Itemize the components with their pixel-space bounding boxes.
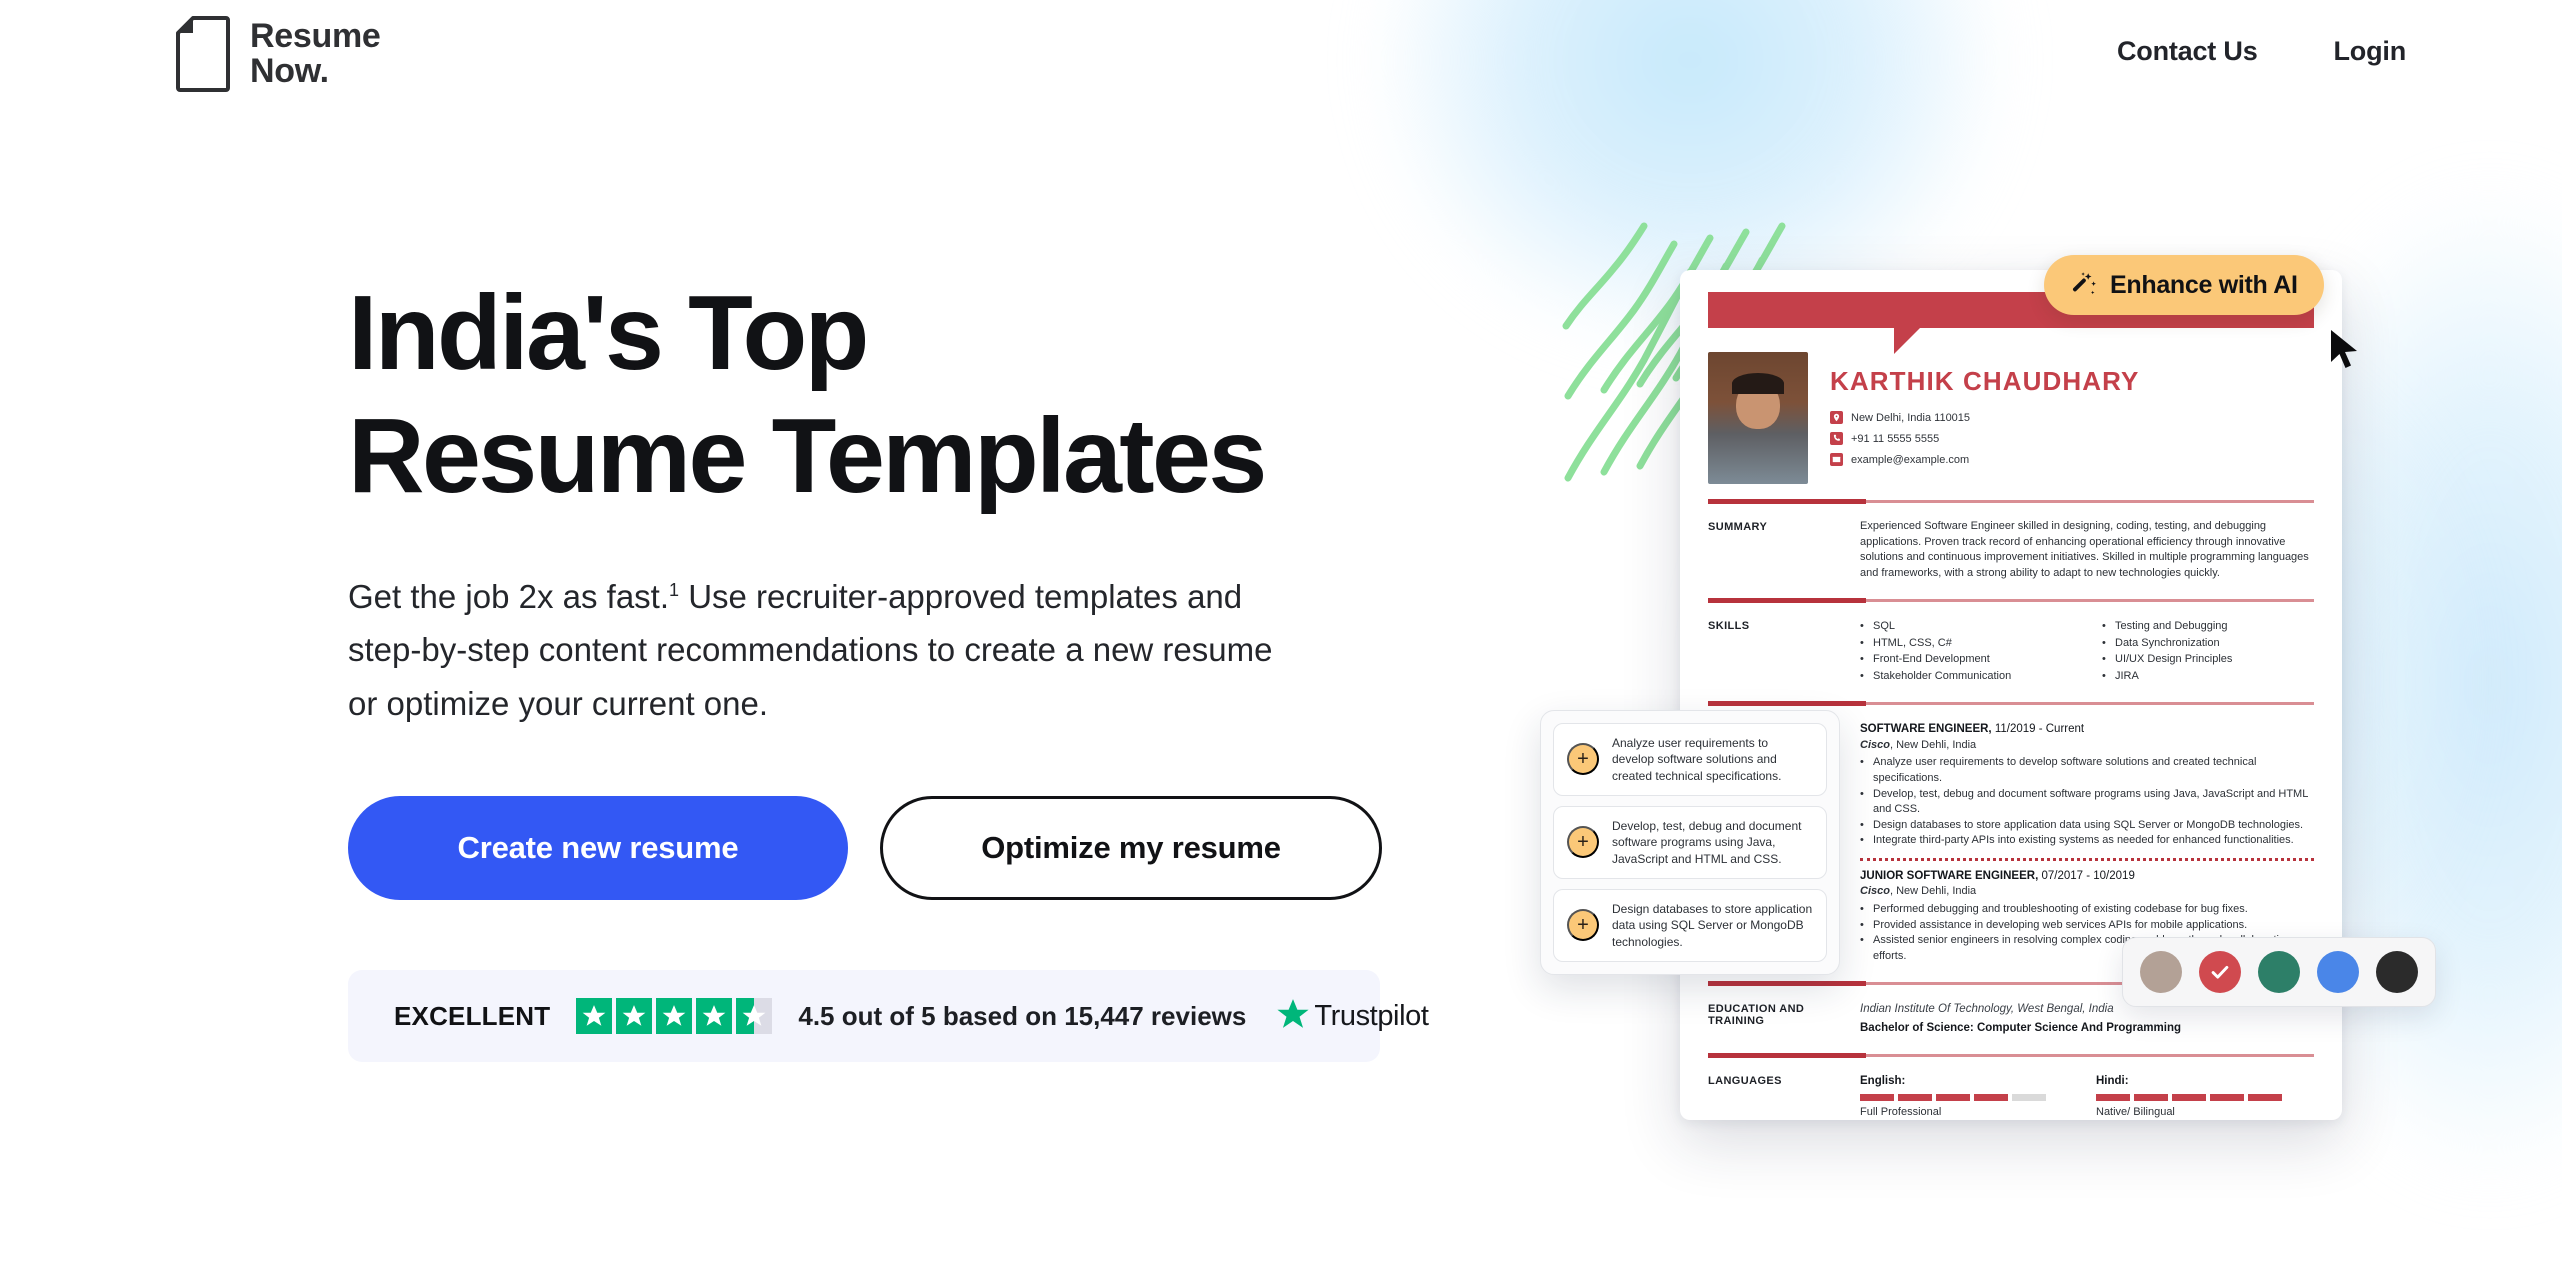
skill-item: Testing and Debugging bbox=[2102, 618, 2314, 635]
job-company: Cisco bbox=[1860, 739, 1890, 751]
contact-location: New Delhi, India 110015 bbox=[1851, 412, 1970, 424]
star-icon bbox=[696, 998, 732, 1034]
section-label-skills: SKILLS bbox=[1708, 618, 1860, 684]
section-divider bbox=[1708, 500, 2314, 503]
hero-subtitle: Get the job 2x as fast.1 Use recruiter-a… bbox=[348, 570, 1308, 730]
language-name: Hindi: bbox=[2096, 1073, 2286, 1089]
job-bullet: Analyze user requirements to develop sof… bbox=[1860, 755, 2314, 786]
summary-text: Experienced Software Engineer skilled in… bbox=[1860, 519, 2314, 581]
trustpilot-wordmark: Trustpilot bbox=[1314, 1000, 1428, 1033]
language-level: Full Professional bbox=[1860, 1105, 2050, 1120]
education-degree: Bachelor of Science: Computer Science An… bbox=[1860, 1020, 2314, 1036]
nav-contact-us[interactable]: Contact Us bbox=[2117, 36, 2258, 67]
language-entry: Hindi: Native/ Bilingual bbox=[2096, 1073, 2286, 1120]
skill-item: HTML, CSS, C# bbox=[1860, 635, 2072, 652]
language-proficiency-bars bbox=[1860, 1094, 2050, 1101]
star-icon bbox=[576, 998, 612, 1034]
language-entry: English: Full Professional bbox=[1860, 1073, 2050, 1120]
skill-item: UI/UX Design Principles bbox=[2102, 651, 2314, 668]
color-swatch-red-selected[interactable] bbox=[2199, 951, 2241, 993]
section-label-languages: LANGUAGES bbox=[1708, 1073, 1860, 1120]
contact-row: New Delhi, India 110015 bbox=[1830, 411, 2314, 424]
trustpilot-star-icon bbox=[1276, 997, 1310, 1036]
hero-section: India's Top Resume Templates Get the job… bbox=[348, 272, 1448, 1062]
star-half-icon bbox=[736, 998, 772, 1034]
magic-wand-sparkles-icon bbox=[2070, 271, 2098, 299]
brand-logo-link[interactable]: Resume Now. bbox=[176, 16, 380, 92]
contact-row: example@example.com bbox=[1830, 453, 2314, 466]
location-pin-icon bbox=[1830, 411, 1843, 424]
job-title: JUNIOR SOFTWARE ENGINEER, bbox=[1860, 870, 2038, 882]
job-dates: 11/2019 - Current bbox=[1992, 723, 2084, 735]
plus-icon[interactable]: + bbox=[1567, 909, 1599, 941]
check-icon bbox=[2209, 961, 2231, 983]
job-bullet: Develop, test, debug and document softwa… bbox=[1860, 787, 2314, 818]
section-divider bbox=[1708, 599, 2314, 602]
ai-suggestions-panel: + Analyze user requirements to develop s… bbox=[1540, 710, 1840, 975]
color-swatch-green[interactable] bbox=[2258, 951, 2300, 993]
resume-header: KARTHIK CHAUDHARY New Delhi, India 11001… bbox=[1680, 328, 2342, 484]
job-company: Cisco bbox=[1860, 885, 1890, 897]
job-bullet: Performed debugging and troubleshooting … bbox=[1860, 902, 2314, 918]
plus-icon[interactable]: + bbox=[1567, 743, 1599, 775]
experience-entry-divider bbox=[1860, 858, 2314, 861]
primary-navigation: Contact Us Login bbox=[2117, 36, 2406, 67]
create-new-resume-button[interactable]: Create new resume bbox=[348, 796, 848, 900]
resume-section-summary: SUMMARY Experienced Software Engineer sk… bbox=[1680, 519, 2342, 581]
skill-item: JIRA bbox=[2102, 668, 2314, 685]
document-folded-corner-icon bbox=[176, 16, 230, 92]
envelope-icon bbox=[1830, 453, 1843, 466]
job-bullet: Provided assistance in developing web se… bbox=[1860, 918, 2314, 934]
landing-page: Resume Now. Contact Us Login India's Top… bbox=[0, 0, 2562, 1274]
resume-section-languages: LANGUAGES English: Full Professional Hin… bbox=[1680, 1073, 2342, 1120]
enhance-with-ai-button[interactable]: Enhance with AI bbox=[2044, 255, 2324, 315]
job-title: SOFTWARE ENGINEER, bbox=[1860, 723, 1992, 735]
color-swatch-taupe[interactable] bbox=[2140, 951, 2182, 993]
skill-item: Front-End Development bbox=[1860, 651, 2072, 668]
language-proficiency-bars bbox=[2096, 1094, 2286, 1101]
site-header: Resume Now. Contact Us Login bbox=[0, 0, 2562, 118]
contact-phone: +91 11 5555 5555 bbox=[1851, 433, 1939, 445]
contact-row: +91 11 5555 5555 bbox=[1830, 432, 2314, 445]
suggestion-card[interactable]: + Develop, test, debug and document soft… bbox=[1553, 806, 1827, 879]
job-location: , New Dehli, India bbox=[1890, 739, 1976, 751]
plus-icon[interactable]: + bbox=[1567, 826, 1599, 858]
language-level: Native/ Bilingual bbox=[2096, 1105, 2286, 1120]
education-location: , West Bengal, India bbox=[2011, 1003, 2114, 1015]
contact-email: example@example.com bbox=[1851, 454, 1969, 466]
hero-illustration: KARTHIK CHAUDHARY New Delhi, India 11001… bbox=[1520, 180, 2520, 1180]
theme-color-picker bbox=[2122, 937, 2436, 1007]
hero-cta-group: Create new resume Optimize my resume bbox=[348, 796, 1448, 900]
nav-login[interactable]: Login bbox=[2334, 36, 2406, 67]
resume-candidate-name: KARTHIK CHAUDHARY bbox=[1830, 366, 2314, 397]
language-name: English: bbox=[1860, 1073, 2050, 1089]
skill-item: SQL bbox=[1860, 618, 2072, 635]
job-bullet: Design databases to store application da… bbox=[1860, 818, 2314, 834]
phone-icon bbox=[1830, 432, 1843, 445]
brand-name: Resume Now. bbox=[250, 19, 380, 90]
star-icon bbox=[656, 998, 692, 1034]
skills-column-left: SQL HTML, CSS, C# Front-End Development … bbox=[1860, 618, 2072, 684]
section-divider bbox=[1708, 1054, 2314, 1057]
trustpilot-logo: Trustpilot bbox=[1276, 997, 1428, 1036]
resume-section-skills: SKILLS SQL HTML, CSS, C# Front-End Devel… bbox=[1680, 618, 2342, 684]
trustpilot-rating-word: EXCELLENT bbox=[394, 1001, 550, 1032]
enhance-with-ai-label: Enhance with AI bbox=[2110, 271, 2298, 300]
skill-item: Stakeholder Communication bbox=[1860, 668, 2072, 685]
skills-column-right: Testing and Debugging Data Synchronizati… bbox=[2102, 618, 2314, 684]
color-swatch-black[interactable] bbox=[2376, 951, 2418, 993]
job-location: , New Dehli, India bbox=[1890, 885, 1976, 897]
hero-subtitle-lead: Get the job 2x as fast. bbox=[348, 578, 669, 615]
resume-photo bbox=[1708, 352, 1808, 484]
section-label-education: EDUCATION AND TRAINING bbox=[1708, 1001, 1860, 1036]
star-icon bbox=[616, 998, 652, 1034]
experience-entry: SOFTWARE ENGINEER, 11/2019 - Current Cis… bbox=[1860, 721, 2314, 849]
suggestion-text: Analyze user requirements to develop sof… bbox=[1612, 735, 1813, 784]
trustpilot-stars bbox=[576, 998, 772, 1034]
suggestion-text: Develop, test, debug and document softwa… bbox=[1612, 818, 1813, 867]
trustpilot-rating-bar[interactable]: EXCELLENT 4.5 out of 5 based on 1 bbox=[348, 970, 1380, 1062]
trustpilot-summary: 4.5 out of 5 based on 15,447 reviews bbox=[798, 1001, 1246, 1032]
footnote-marker: 1 bbox=[669, 580, 679, 600]
optimize-my-resume-button[interactable]: Optimize my resume bbox=[880, 796, 1382, 900]
section-label-summary: SUMMARY bbox=[1708, 519, 1860, 581]
skill-item: Data Synchronization bbox=[2102, 635, 2314, 652]
color-swatch-blue[interactable] bbox=[2317, 951, 2359, 993]
suggestion-text: Design databases to store application da… bbox=[1612, 901, 1813, 950]
education-school: Indian Institute Of Technology bbox=[1860, 1003, 2011, 1015]
resume-contact-list: New Delhi, India 110015 +91 11 5555 5555 bbox=[1830, 411, 2314, 466]
job-dates: 07/2017 - 10/2019 bbox=[2038, 870, 2135, 882]
section-divider bbox=[1708, 702, 2314, 705]
job-bullet: Integrate third-party APIs into existing… bbox=[1860, 833, 2314, 849]
suggestion-card[interactable]: + Analyze user requirements to develop s… bbox=[1553, 723, 1827, 796]
suggestion-card[interactable]: + Design databases to store application … bbox=[1553, 889, 1827, 962]
page-title: India's Top Resume Templates bbox=[348, 272, 1448, 518]
